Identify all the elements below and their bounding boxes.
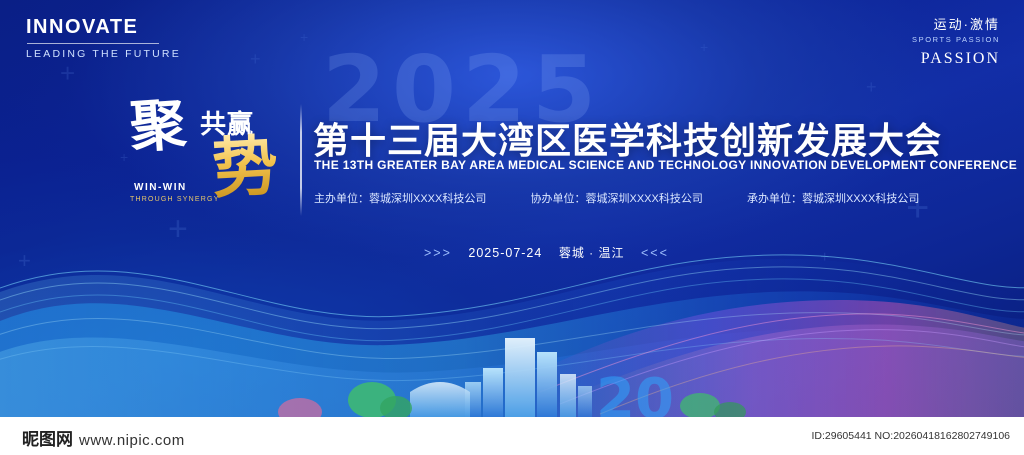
brand-tagline: LEADING THE FUTURE [26, 48, 181, 60]
calligraphy-shi: 势 [210, 132, 279, 201]
slogan-cn: 运动·激情 [912, 14, 1000, 33]
organizer-row: 主办单位：蓉城深圳XXXX科技公司 协办单位：蓉城深圳XXXX科技公司 承办单位… [314, 190, 919, 206]
right-arrow-icon: <<< [641, 246, 669, 260]
slogan-en: SPORTS PASSION [912, 35, 1000, 44]
calligraphy-block: 聚 共赢 势 WIN-WIN THROUGH SYNERGY [128, 96, 298, 226]
organizer-coorganizer: 协办单位：蓉城深圳XXXX科技公司 [530, 193, 702, 205]
conference-title-cn: 第十三届大湾区医学科技创新发展大会 [313, 112, 942, 164]
left-arrow-icon: >>> [424, 246, 452, 260]
footer-bar: 昵图网www.nipic.com ID:29605441 NO:20260418… [0, 417, 1024, 455]
calligraphy-en-main: WIN-WIN [134, 182, 187, 193]
footer-id: ID:29605441 NO:20260418162802749106 [811, 430, 1010, 442]
date-location-row: >>> 2025-07-24 蓉城 · 温江 <<< [424, 244, 669, 261]
slogan-word: PASSION [912, 50, 1000, 68]
footer-url: www.nipic.com [79, 432, 185, 449]
conference-title-en: THE 13TH GREATER BAY AREA MEDICAL SCIENC… [314, 158, 1017, 172]
organizer-undertaker: 承办单位：蓉城深圳XXXX科技公司 [747, 193, 919, 205]
event-place: 蓉城 · 温江 [559, 246, 625, 260]
footer-brand: 昵图网www.nipic.com [22, 425, 185, 450]
poster-canvas: + + + + + + + + + + [0, 0, 1024, 455]
calligraphy-ju: 聚 [128, 96, 188, 156]
event-date: 2025-07-24 [468, 246, 542, 260]
calligraphy-en-sub: THROUGH SYNERGY [130, 196, 220, 203]
brand-name: INNOVATE [26, 16, 181, 39]
brand-logo: INNOVATE LEADING THE FUTURE [26, 16, 181, 60]
top-right-slogan: 运动·激情 SPORTS PASSION PASSION [912, 14, 1000, 68]
footer-brand-name: 昵图网 [22, 430, 73, 449]
organizer-host: 主办单位：蓉城深圳XXXX科技公司 [314, 193, 486, 205]
logo-divider [27, 43, 159, 44]
vertical-divider [300, 104, 302, 216]
